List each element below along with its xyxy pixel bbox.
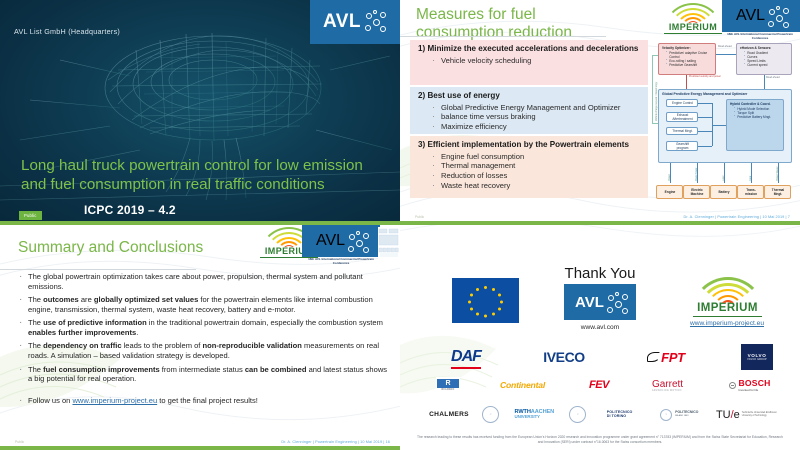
thank-you-slide: Thank You <box>400 225 800 450</box>
continental-logo: Continental <box>484 380 562 390</box>
avl-symbol-icon <box>366 12 387 33</box>
avl-logo: AVL <box>302 225 380 257</box>
partner-logo-row-2: R RICARDO Continental FEV Garrett ADVANC… <box>428 377 786 393</box>
footer-classification: Public <box>15 440 24 444</box>
eu-flag <box>452 278 519 323</box>
page-title: Measures for fuel consumption reduction <box>416 6 626 43</box>
list-item: The fuel consumption improvements from i… <box>18 365 388 385</box>
imperium-website-url[interactable]: www.imperium-project.eu <box>672 320 782 327</box>
connector-4 <box>698 146 712 147</box>
connector-3 <box>698 131 712 132</box>
arrow-feedback-vertical <box>652 55 653 123</box>
measure-item: Waste heat recovery <box>432 181 642 191</box>
avl-wordmark: AVL <box>575 294 604 311</box>
architecture-diagram: Velocity Optimizer: Predictive/ adaptive… <box>652 39 798 215</box>
measure-item: Vehicle velocity scheduling <box>432 56 642 66</box>
company-label: AVL List GmbH (Headquarters) <box>14 27 120 36</box>
funding-acknowledgement: The research leading to these results ha… <box>414 435 786 445</box>
list-item: The outcomes are globally optimized set … <box>18 295 388 315</box>
volvo-logo: VOLVO VOLVO GROUP <box>732 344 782 370</box>
rwth-aachen-logo: RWTHAACHEN UNIVERSITY <box>509 410 559 420</box>
arrow-ehorizon-to-velocity <box>716 54 736 55</box>
chalmers-logo: CHALMERS <box>426 411 472 418</box>
avl-website-url[interactable]: www.avl.com <box>564 324 636 331</box>
polimi-logo: ☉ POLITECNICO MILANO 1863 <box>650 409 708 421</box>
eu-stars-icon <box>452 278 519 323</box>
measure-item: Thermal management <box>432 161 642 171</box>
title-divider <box>400 36 606 37</box>
avl-wordmark: AVL <box>323 11 361 33</box>
measure-heading: 1) Minimize the executed accelerations a… <box>418 44 642 54</box>
ricardo-logo: R RICARDO <box>428 377 468 393</box>
engine-control-box: Engine Control <box>666 99 698 107</box>
gearshift-program-box: Gearshift program <box>666 141 698 151</box>
hybrid-controller-box: Hybrid Controller & Coord. Hybrid Mode S… <box>726 99 784 151</box>
arrow-velocity-to-gpemo <box>686 75 687 89</box>
avl-logo: AVL <box>722 0 800 32</box>
avl-logo: AVL <box>310 0 400 44</box>
list-item: The global powertrain optimization takes… <box>18 272 388 292</box>
output-box-thermal-mngt: Thermal Mngt. <box>764 185 791 199</box>
university-seal-1-icon: ☉ <box>480 406 502 423</box>
output-box-battery: Battery <box>710 185 737 199</box>
imperium-logo: IMPERIUM <box>690 277 765 319</box>
arrow-label-road-ahead-left: Road ahead <box>718 46 732 49</box>
measure-heading: 3) Efficient implementation by the Power… <box>418 140 642 150</box>
ehorizon-sensors-box: eHorizon & Sensors: Road Gradient Curves… <box>736 43 792 75</box>
list-item: The dependency on traffic leads to the p… <box>18 341 388 361</box>
connector-1 <box>698 103 712 104</box>
partner-logo-row-1: DAF IVECO FPT VOLVO VOLVO GROUP <box>430 344 782 370</box>
connector-2 <box>698 117 712 118</box>
measure-item: Reduction of losses <box>432 171 642 181</box>
iveco-logo: IVECO <box>528 349 600 365</box>
measure-block-2: 2) Best use of energy Global Predictive … <box>410 87 648 134</box>
footer-meta: Dr. A. Clenninger | Powertrain Engineeri… <box>281 440 390 444</box>
summary-slide: Summary and Conclusions IMPERIUM AVL 16t… <box>0 225 400 450</box>
arrow-label-road-ahead-right: Road ahead <box>766 77 780 80</box>
output-arrow-label-3: Load <box>722 176 725 181</box>
polito-logo: POLITECNICO DI TORINO <box>597 411 643 419</box>
velocity-optimizer-box: Velocity Optimizer: Predictive/ adaptive… <box>658 43 716 75</box>
summary-bullet-list: The global powertrain optimization takes… <box>18 272 388 410</box>
list-item-follow-us: Follow us on www.imperium-project.eu to … <box>18 396 388 406</box>
fpt-logo: FPT <box>626 350 706 365</box>
bosch-anchor-icon <box>729 382 736 389</box>
avl-symbol-icon <box>769 8 786 25</box>
garrett-logo: Garrett ADVANCING MOTION <box>637 379 699 392</box>
avl-symbol-icon <box>349 233 366 250</box>
avl-wordmark: AVL <box>736 7 765 25</box>
tue-logo: TU/e Technische Universiteit Eindhoven U… <box>716 409 786 421</box>
measure-heading: 2) Best use of energy <box>418 91 642 101</box>
thumbnail-graphic <box>378 227 400 261</box>
footer-meta: Dr. A. Clenninger | Powertrain Engineeri… <box>684 215 790 219</box>
fpt-swoosh-icon <box>647 352 660 362</box>
arrow-feedback-top <box>652 55 658 56</box>
output-box-transmission: Trans-mission <box>737 185 764 199</box>
classification-badge: Public <box>19 211 42 220</box>
fev-logo: FEV <box>577 379 621 391</box>
measure-item: Global Predictive Energy Management and … <box>432 103 642 113</box>
measure-item: balance time versus braking <box>432 112 642 122</box>
footer-classification: Public <box>415 215 424 219</box>
measure-block-3: 3) Efficient implementation by the Power… <box>410 136 648 198</box>
partner-logo-row-3: CHALMERS ☉ RWTHAACHEN UNIVERSITY ☉ POLIT… <box>426 406 786 423</box>
conference-name: 16th AVL International Commercial Powert… <box>302 258 380 265</box>
title-slide: AVL List GmbH (Headquarters) AVL Long ha… <box>0 0 400 225</box>
output-box-engine: Engine <box>656 185 683 199</box>
slide-thumbnail-preview <box>378 227 400 261</box>
measure-item: Engine fuel consumption <box>432 152 642 162</box>
measures-slide: Measures for fuel consumption reduction … <box>400 0 800 225</box>
title-divider <box>0 269 196 270</box>
output-arrow-label-5: Power Speed <box>776 167 779 181</box>
connector-to-hybrid <box>712 125 726 126</box>
daf-logo: DAF <box>430 348 502 366</box>
thermal-mngt-box: Thermal Mngt. <box>666 127 698 135</box>
bottom-accent-bar <box>0 446 400 450</box>
page-title: Long haul truck powertrain control for l… <box>21 156 386 195</box>
arrow-label-predicted: Predicted velocity and power <box>689 76 733 79</box>
page-title: Summary and Conclusions <box>18 239 203 257</box>
ricardo-mark-icon: R <box>437 379 459 389</box>
imperium-wordmark: IMPERIUM <box>662 23 724 32</box>
imperium-logo: IMPERIUM <box>662 3 724 37</box>
imperium-project-link[interactable]: www.imperium-project.eu <box>72 396 157 405</box>
measure-block-1: 1) Minimize the executed accelerations a… <box>410 40 648 85</box>
slide-deck: AVL List GmbH (Headquarters) AVL Long ha… <box>0 0 800 450</box>
list-item: The use of predictive information in the… <box>18 318 388 338</box>
title-subtitle: ICPC 2019 – 4.2 <box>84 203 176 217</box>
measure-item: Maximize efficiency <box>432 122 642 132</box>
bosch-logo: BOSCH Invented for life <box>714 378 786 392</box>
university-seal-2-icon: ☉ <box>567 406 589 423</box>
imperium-wordmark: IMPERIUM <box>690 303 765 315</box>
arrow-ehorizon-down <box>764 75 765 89</box>
avl-symbol-icon <box>608 294 625 311</box>
avl-logo: AVL <box>564 284 636 320</box>
avl-wordmark: AVL <box>316 232 345 250</box>
output-arrow-label-1: Power <box>668 174 671 181</box>
output-arrow-label-4: Gear <box>749 176 752 181</box>
exhaust-aftertreatment-box: Exhaust Aftertreatment <box>666 112 698 122</box>
output-box-electric-machine: Electric Machine <box>683 185 710 199</box>
output-arrow-label-2: Mode Power <box>695 168 698 181</box>
